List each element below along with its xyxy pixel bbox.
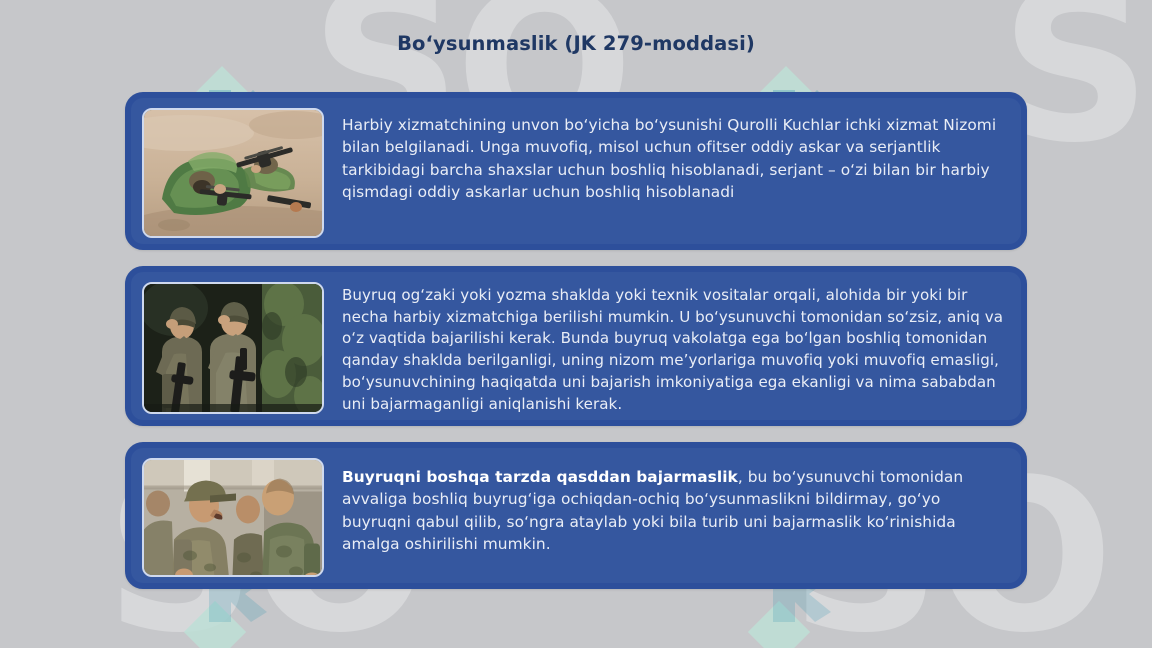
content-card: Buyruqni boshqa tarzda qasddan bajarmasl… (125, 442, 1027, 589)
card-body-text: Buyruqni boshqa tarzda qasddan bajarmasl… (324, 458, 1009, 556)
card-body-text: Buyruq og‘zaki yoki yozma shaklda yoki t… (324, 282, 1009, 415)
watermark-diamond-icon (748, 601, 810, 648)
page-title-paren: ) (746, 32, 755, 55)
slide-canvas: SO SO SO SO Bo‘ysunmaslik (JK 279-moddas… (0, 0, 1152, 648)
card-image-soldiers-saluting (142, 282, 324, 414)
card-image-drill-instructor (142, 458, 324, 577)
content-card-list: Harbiy xizmatchining unvon bo‘yicha bo‘y… (125, 92, 1027, 605)
card-body-text: Harbiy xizmatchining unvon bo‘yicha bo‘y… (324, 108, 1009, 204)
content-card: Buyruq og‘zaki yoki yozma shaklda yoki t… (125, 266, 1027, 426)
page-title-text: Bo‘ysunmaslik (JK 279-moddasi (397, 32, 746, 55)
content-card: Harbiy xizmatchining unvon bo‘yicha bo‘y… (125, 92, 1027, 250)
card-image-soldiers-camouflage (142, 108, 324, 238)
page-title: Bo‘ysunmaslik (JK 279-moddasi) (0, 32, 1152, 55)
soldiers-saluting-illustration (144, 284, 322, 412)
card-body-bold-lead: Buyruqni boshqa tarzda qasddan bajarmasl… (342, 468, 738, 486)
drill-instructor-illustration (144, 460, 322, 575)
soldiers-camouflage-illustration (144, 110, 322, 236)
watermark-diamond-icon (184, 601, 246, 648)
